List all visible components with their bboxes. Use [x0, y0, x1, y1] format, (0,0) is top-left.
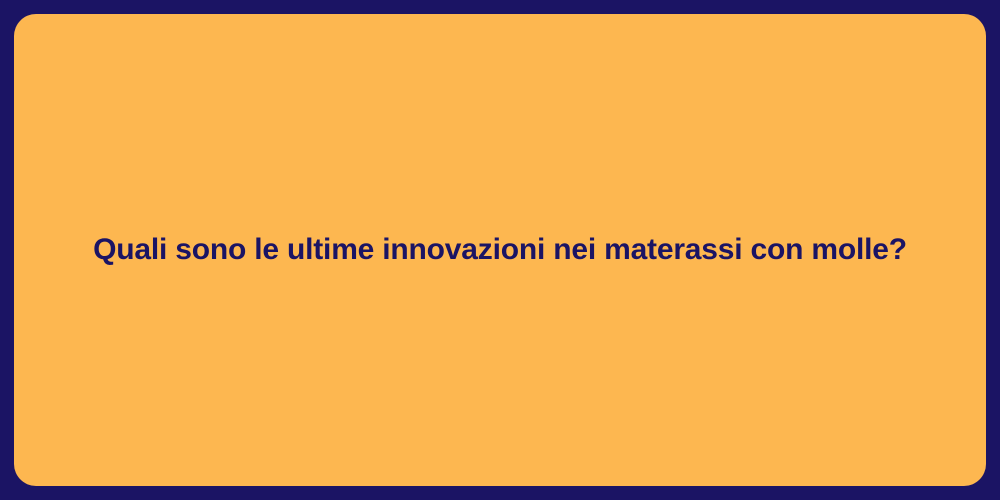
question-title: Quali sono le ultime innovazioni nei mat… [93, 231, 907, 269]
question-card: Quali sono le ultime innovazioni nei mat… [14, 14, 986, 486]
question-card-frame: Quali sono le ultime innovazioni nei mat… [0, 0, 1000, 500]
